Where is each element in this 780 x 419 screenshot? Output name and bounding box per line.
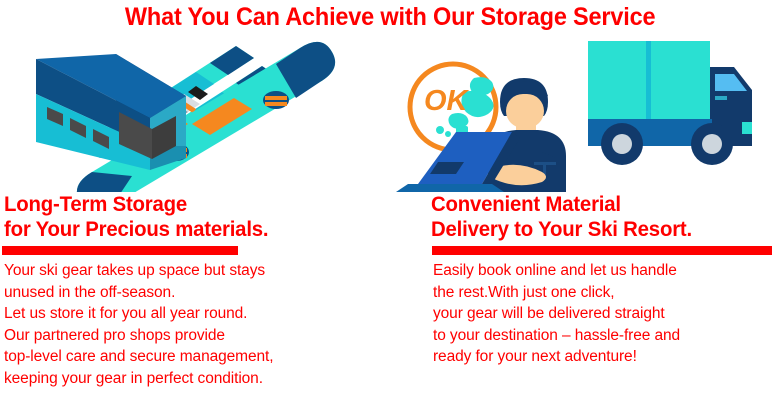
ok-badge-label: OK [424, 85, 470, 117]
right-panel: Convenient Material Delivery to Your Ski… [425, 192, 780, 419]
warehouse-building-icon [36, 54, 186, 170]
storage-warehouse-with-skis-illustration [0, 34, 390, 192]
left-panel-heading: Long-Term Storage for Your Precious mate… [4, 192, 378, 242]
page-title: What You Can Achieve with Our Storage Se… [125, 3, 655, 32]
delivery-truck-icon [588, 41, 752, 165]
right-panel-body: Easily book online and let us handle the… [433, 260, 780, 368]
right-panel-divider [432, 246, 772, 255]
banner-title-bar: What You Can Achieve with Our Storage Se… [0, 0, 780, 34]
illustration-band: OK [0, 34, 780, 192]
left-panel: Long-Term Storage for Your Precious mate… [0, 192, 390, 419]
left-panel-body: Your ski gear takes up space but stays u… [4, 260, 390, 389]
left-panel-divider [2, 246, 238, 255]
online-booking-and-delivery-illustration: OK [390, 34, 780, 192]
snowboard-binding-icon [263, 91, 289, 109]
right-panel-heading: Convenient Material Delivery to Your Ski… [431, 192, 770, 242]
promo-banner: What You Can Achieve with Our Storage Se… [0, 0, 780, 419]
